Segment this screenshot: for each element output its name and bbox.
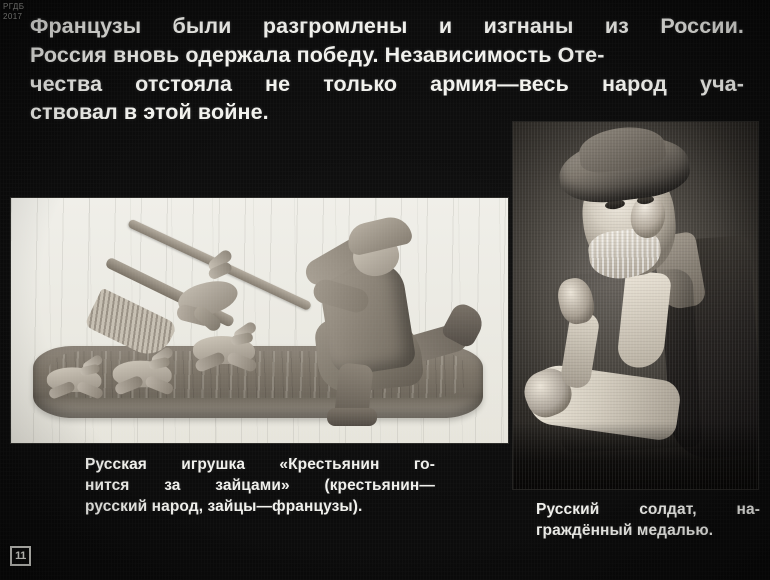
caption-line: русский народ, зайцы—французы). [85, 496, 435, 517]
caption-word: (крестьянин— [324, 475, 435, 496]
caption-word: Русская [85, 454, 147, 475]
page-number-value: 11 [15, 551, 26, 562]
headline-word: были [173, 12, 232, 41]
photo-russian-toy [11, 198, 508, 443]
headline-line-4: ствовал в этой войне. [30, 98, 744, 127]
caption-line: граждённый медалью. [536, 520, 760, 541]
headline-word: России. [660, 12, 744, 41]
caption-line: Русская игрушка «Крестьянин го- [85, 454, 435, 475]
headline-word: только [323, 70, 397, 99]
caption-word: игрушка [181, 454, 245, 475]
archive-watermark: РГДБ 2017 [3, 2, 24, 22]
hare-running [193, 326, 267, 372]
caption-word: на- [737, 499, 760, 520]
headline-word: уча- [700, 70, 744, 99]
peasant-foot [327, 408, 377, 426]
headline-line-3: чества отстояла не только армия—весь нар… [30, 70, 744, 99]
peasant-hat [344, 213, 413, 257]
film-grain-right [513, 122, 758, 489]
headline-line-1: Французы были разгромлены и изгнаны из Р… [30, 12, 744, 41]
headline-word: армия—весь [430, 70, 569, 99]
headline-line-2: Россия вновь одержала победу. Независимо… [30, 41, 744, 70]
headline-word: не [265, 70, 290, 99]
headline-word: и [439, 12, 452, 41]
filmstrip-frame: РГДБ 2017 Французы были разгромлены и из… [0, 0, 770, 580]
headline-word: чества [30, 70, 102, 99]
caption-word: за [164, 475, 180, 496]
caption-word: солдат, [639, 499, 696, 520]
caption-line: нится за зайцами» (крестьянин— [85, 475, 435, 496]
caption-russian-toy: Русская игрушка «Крестьянин го- нится за… [85, 454, 435, 517]
caption-word: го- [414, 454, 435, 475]
caption-russian-soldier: Русский солдат, на- граждённый медалью. [536, 499, 760, 541]
headline-word: из [605, 12, 629, 41]
caption-word: зайцами» [215, 475, 289, 496]
headline-word: Французы [30, 12, 141, 41]
hare-running [47, 359, 103, 396]
page-number-badge: 11 [10, 546, 31, 566]
peasant-figure [287, 212, 467, 402]
watermark-year: 2017 [3, 12, 24, 22]
hare-running [113, 351, 180, 393]
caption-word: Русский [536, 499, 599, 520]
headline-word: отстояла [135, 70, 232, 99]
headline-word: изгнаны [484, 12, 574, 41]
photo-russian-soldier [513, 122, 758, 489]
headline-word: народ [602, 70, 667, 99]
caption-word: «Крестьянин [279, 454, 379, 475]
caption-line: Русский солдат, на- [536, 499, 760, 520]
headline-word: разгромлены [263, 12, 408, 41]
watermark-org: РГДБ [3, 2, 24, 12]
slide-headline-text: Французы были разгромлены и изгнаны из Р… [30, 12, 744, 127]
caption-word: нится [85, 475, 129, 496]
